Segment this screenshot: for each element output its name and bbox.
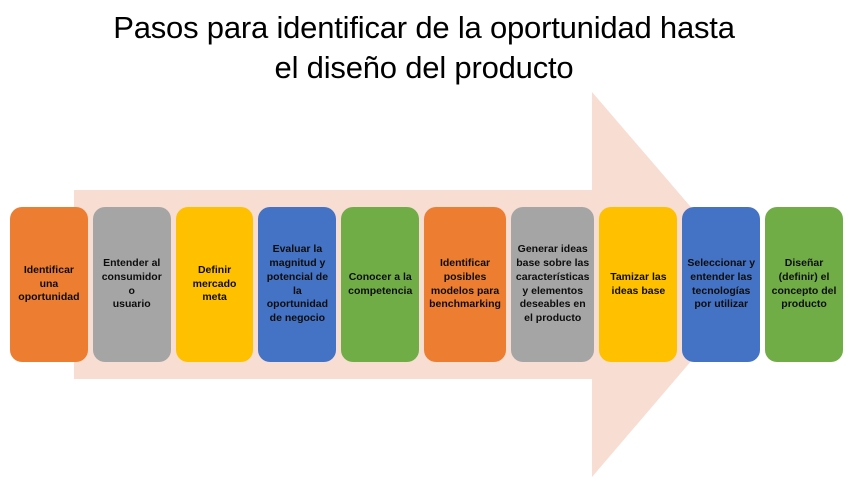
- step-label-6: Identificar posibles modelos para benchm…: [429, 257, 501, 312]
- step-label-8: Tamizar las ideas base: [604, 271, 672, 299]
- step-box-4[interactable]: Evaluar la magnitud y potencial de la op…: [258, 207, 336, 362]
- step-box-8[interactable]: Tamizar las ideas base: [599, 207, 677, 362]
- step-box-7[interactable]: Generar ideas base sobre las característ…: [511, 207, 595, 362]
- step-box-2[interactable]: Entender al consumidor o usuario: [93, 207, 171, 362]
- process-steps-row: Identificar una oportunidad Entender al …: [10, 207, 843, 362]
- step-box-5[interactable]: Conocer a la competencia: [341, 207, 419, 362]
- step-label-1: Identificar una oportunidad: [15, 264, 83, 306]
- step-label-9: Seleccionar y entender las tecnologías p…: [687, 257, 755, 312]
- step-box-9[interactable]: Seleccionar y entender las tecnologías p…: [682, 207, 760, 362]
- slide-canvas: Pasos para identificar de la oportunidad…: [0, 0, 848, 477]
- step-label-10: Diseñar (definir) el concepto del produc…: [770, 257, 838, 312]
- step-label-4: Evaluar la magnitud y potencial de la op…: [263, 243, 331, 326]
- step-box-6[interactable]: Identificar posibles modelos para benchm…: [424, 207, 506, 362]
- step-label-7: Generar ideas base sobre las característ…: [516, 243, 590, 326]
- step-box-1[interactable]: Identificar una oportunidad: [10, 207, 88, 362]
- page-title: Pasos para identificar de la oportunidad…: [0, 8, 848, 87]
- step-label-2: Entender al consumidor o usuario: [98, 257, 166, 312]
- step-label-5: Conocer a la competencia: [346, 271, 414, 299]
- step-label-3: Definir mercado meta: [181, 264, 249, 306]
- step-box-10[interactable]: Diseñar (definir) el concepto del produc…: [765, 207, 843, 362]
- step-box-3[interactable]: Definir mercado meta: [176, 207, 254, 362]
